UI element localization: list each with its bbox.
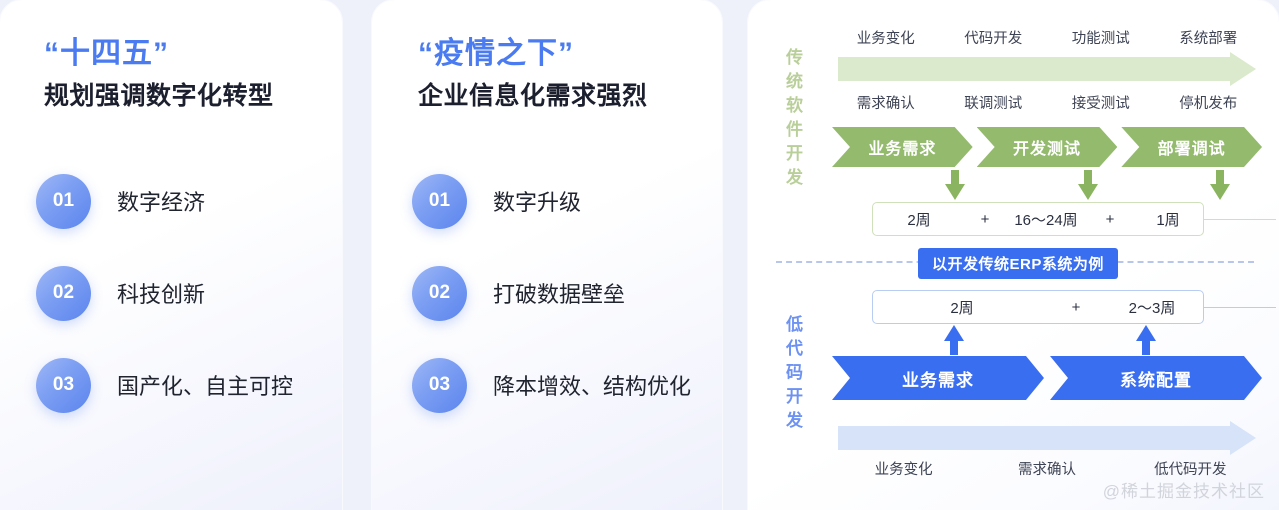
lowcode-stage-chevrons: 业务需求 系统配置 [832, 356, 1262, 400]
duration-value: 2～3周 [1101, 297, 1203, 318]
lowcode-vertical-label: 低代码开发 [784, 315, 801, 435]
card-header: “十四五” 规划强调数字化转型 [44, 36, 274, 111]
duration-value: 1周 [1133, 209, 1203, 230]
arrow-head [1210, 184, 1230, 200]
arrow-shaft [838, 57, 1230, 81]
bullet-label: 科技创新 [117, 277, 205, 309]
arrow-shaft [838, 426, 1230, 450]
bullet-number-badge: 01 [412, 174, 467, 229]
stage-chevron[interactable]: 系统配置 [1050, 356, 1262, 400]
phase-label: 代码开发 [940, 27, 1048, 48]
arrow-tip [1230, 421, 1256, 455]
example-badge: 以开发传统ERP系统为例 [918, 248, 1118, 279]
traditional-bottom-phase-labels: 需求确认 联调测试 接受测试 停机发布 [832, 92, 1262, 113]
bullet-number-badge: 03 [36, 358, 91, 413]
card-accent-title: “十四五” [44, 36, 274, 71]
duration-plus: + [965, 211, 1005, 228]
process-comparison-diagram: 传统软件开发 业务变化 代码开发 功能测试 系统部署 需求确认 联调测试 接受测… [748, 0, 1279, 510]
down-arrow-icon [945, 170, 965, 200]
bullet-number-badge: 01 [36, 174, 91, 229]
arrow-head [1078, 184, 1098, 200]
phase-label: 停机发布 [1155, 92, 1263, 113]
lowcode-bottom-phase-labels: 业务变化 需求确认 低代码开发 [832, 458, 1262, 479]
bullet-label: 数字经济 [117, 185, 205, 217]
duration-plus: + [1051, 299, 1101, 316]
phase-label: 系统部署 [1155, 27, 1263, 48]
phase-label: 业务变化 [832, 458, 975, 479]
bullet-number-badge: 03 [412, 358, 467, 413]
list-item[interactable]: 01 数字升级 [412, 155, 691, 247]
list-item[interactable]: 01 数字经济 [36, 155, 293, 247]
phase-label: 联调测试 [940, 92, 1048, 113]
list-item[interactable]: 03 降本增效、结构优化 [412, 339, 691, 431]
traditional-top-phase-labels: 业务变化 代码开发 功能测试 系统部署 [832, 27, 1262, 48]
stage-chevron[interactable]: 部署调试 [1121, 127, 1262, 167]
list-item[interactable]: 02 科技创新 [36, 247, 293, 339]
arrow-tip [1230, 52, 1256, 86]
phase-label: 接受测试 [1047, 92, 1155, 113]
duration-connector-line [1204, 307, 1276, 308]
card-pandemic: “疫情之下” 企业信息化需求强烈 01 数字升级 02 打破数据壁垒 03 降本… [372, 0, 722, 510]
stage-chevron[interactable]: 业务需求 [832, 356, 1044, 400]
bullet-label: 数字升级 [493, 185, 581, 217]
lowcode-timeline-arrow-icon [838, 421, 1256, 455]
up-arrow-icon [944, 325, 964, 355]
arrow-head [944, 325, 964, 341]
down-arrow-icon [1078, 170, 1098, 200]
traditional-timeline-arrow-icon [838, 52, 1256, 86]
lowcode-duration-box: 2周 + 2～3周 [872, 290, 1204, 324]
duration-plus: + [1087, 211, 1133, 228]
bullet-number-badge: 02 [412, 266, 467, 321]
arrow-head [945, 184, 965, 200]
stage-chevron[interactable]: 开发测试 [977, 127, 1118, 167]
card-policy: “十四五” 规划强调数字化转型 01 数字经济 02 科技创新 03 国产化、自… [0, 0, 342, 510]
up-arrow-icon [1136, 325, 1156, 355]
bullet-list: 01 数字升级 02 打破数据壁垒 03 降本增效、结构优化 [412, 155, 691, 431]
arrow-head [1136, 325, 1156, 341]
traditional-vertical-label: 传统软件开发 [784, 48, 801, 192]
duration-value: 16～24周 [1005, 209, 1087, 230]
phase-label: 低代码开发 [1119, 458, 1262, 479]
stage-chevron[interactable]: 业务需求 [832, 127, 973, 167]
card-main-title: 企业信息化需求强烈 [418, 81, 648, 111]
phase-label: 功能测试 [1047, 27, 1155, 48]
phase-label: 需求确认 [975, 458, 1118, 479]
card-comparison-diagram: 传统软件开发 业务变化 代码开发 功能测试 系统部署 需求确认 联调测试 接受测… [748, 0, 1279, 510]
watermark: @稀土掘金技术社区 [1103, 477, 1265, 502]
traditional-duration-box: 2周 + 16～24周 + 1周 [872, 202, 1204, 236]
list-item[interactable]: 02 打破数据壁垒 [412, 247, 691, 339]
bullet-label: 降本增效、结构优化 [493, 369, 691, 401]
duration-value: 2周 [873, 209, 965, 230]
duration-connector-line [1204, 219, 1276, 220]
duration-value: 2周 [873, 297, 1051, 318]
traditional-stage-chevrons: 业务需求 开发测试 部署调试 [832, 127, 1262, 167]
phase-label: 业务变化 [832, 27, 940, 48]
down-arrow-icon [1210, 170, 1230, 200]
bullet-label: 国产化、自主可控 [117, 369, 293, 401]
list-item[interactable]: 03 国产化、自主可控 [36, 339, 293, 431]
bullet-list: 01 数字经济 02 科技创新 03 国产化、自主可控 [36, 155, 293, 431]
card-header: “疫情之下” 企业信息化需求强烈 [418, 36, 648, 111]
slide-root: “十四五” 规划强调数字化转型 01 数字经济 02 科技创新 03 国产化、自… [0, 0, 1279, 510]
phase-label: 需求确认 [832, 92, 940, 113]
bullet-label: 打破数据壁垒 [493, 277, 625, 309]
card-accent-title: “疫情之下” [418, 36, 648, 71]
card-main-title: 规划强调数字化转型 [44, 81, 274, 111]
bullet-number-badge: 02 [36, 266, 91, 321]
